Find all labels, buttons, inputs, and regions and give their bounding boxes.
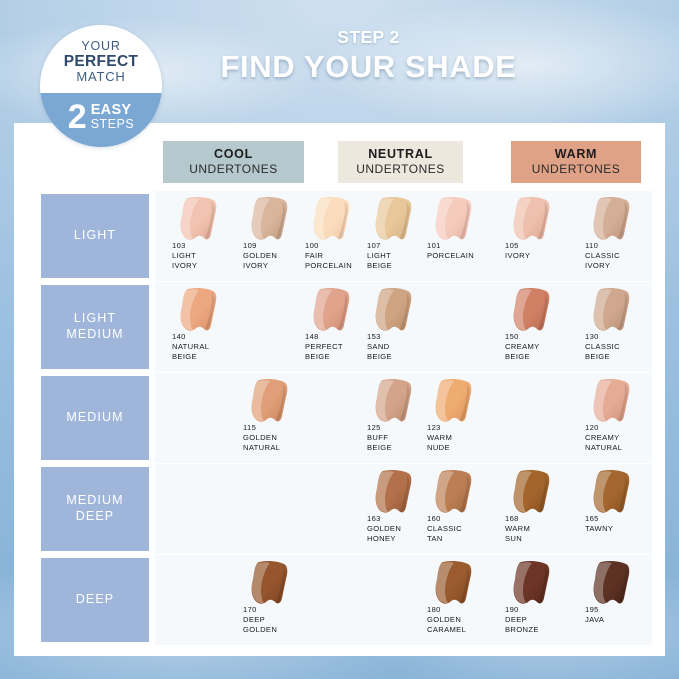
shade-label: 150CREAMYBEIGE xyxy=(505,332,583,362)
shade-name: TAWNY xyxy=(585,524,663,534)
shade-number: 150 xyxy=(505,332,583,342)
shade-cell-101[interactable]: 101PORCELAIN xyxy=(426,191,506,281)
undertone-name: NEUTRAL xyxy=(368,147,433,162)
shade-cell-180[interactable]: 180GOLDENCARAMEL xyxy=(426,555,506,645)
undertone-sublabel: UNDERTONES xyxy=(189,162,278,176)
depth-label-text: LIGHT xyxy=(74,228,116,244)
shade-name: NATURAL xyxy=(172,342,250,352)
shade-number: 123 xyxy=(427,423,505,433)
shade-cell-160[interactable]: 160CLASSICTAN xyxy=(426,464,506,554)
depth-label-medium-deep[interactable]: MEDIUMDEEP xyxy=(41,467,149,551)
foundation-swatch-icon xyxy=(366,195,428,243)
shade-label: 105IVORY xyxy=(505,241,583,261)
shade-name: CLASSIC xyxy=(585,251,663,261)
shade-number: 115 xyxy=(243,423,321,433)
shade-row: LIGHTMEDIUM140NATURALBEIGE148PERFECTBEIG… xyxy=(14,282,665,372)
badge-easy-label: EASY xyxy=(91,103,132,118)
shade-name: SUN xyxy=(505,534,583,544)
foundation-swatch-icon xyxy=(584,286,646,334)
shade-name: CARAMEL xyxy=(427,625,505,635)
shade-cell-120[interactable]: 120CREAMYNATURAL xyxy=(584,373,664,463)
shade-label: 160CLASSICTAN xyxy=(427,514,505,544)
shade-label: 180GOLDENCARAMEL xyxy=(427,605,505,635)
foundation-swatch-icon xyxy=(584,195,646,243)
shade-cell-168[interactable]: 168WARMSUN xyxy=(504,464,584,554)
undertone-header-row: COOL UNDERTONES NEUTRAL UNDERTONES WARM … xyxy=(14,141,665,183)
shade-number: 140 xyxy=(172,332,250,342)
shade-number: 170 xyxy=(243,605,321,615)
depth-label-text: MEDIUM xyxy=(66,410,123,426)
shade-number: 153 xyxy=(367,332,445,342)
shade-label: 168WARMSUN xyxy=(505,514,583,544)
depth-label-medium[interactable]: MEDIUM xyxy=(41,376,149,460)
shade-number: 130 xyxy=(585,332,663,342)
undertone-sublabel: UNDERTONES xyxy=(356,162,445,176)
shade-cell-165[interactable]: 165TAWNY xyxy=(584,464,664,554)
foundation-swatch-icon xyxy=(366,286,428,334)
shade-row: MEDIUMDEEP163GOLDENHONEY160CLASSICTAN168… xyxy=(14,464,665,554)
shade-name: IVORY xyxy=(585,261,663,271)
depth-label-light-medium[interactable]: LIGHTMEDIUM xyxy=(41,285,149,369)
shade-number: 165 xyxy=(585,514,663,524)
shade-name: BEIGE xyxy=(367,352,445,362)
shade-label: 130CLASSICBEIGE xyxy=(585,332,663,362)
depth-label-deep[interactable]: DEEP xyxy=(41,558,149,642)
shade-name: BRONZE xyxy=(505,625,583,635)
shade-chart-card: COOL UNDERTONES NEUTRAL UNDERTONES WARM … xyxy=(14,123,665,656)
shade-label: 140NATURALBEIGE xyxy=(172,332,250,362)
shade-cell-170[interactable]: 170DEEPGOLDEN xyxy=(242,555,322,645)
shade-label: 170DEEPGOLDEN xyxy=(243,605,321,635)
foundation-swatch-icon xyxy=(304,286,366,334)
shade-cell-115[interactable]: 115GOLDENNATURAL xyxy=(242,373,322,463)
foundation-swatch-icon xyxy=(171,286,233,334)
depth-label-text: LIGHTMEDIUM xyxy=(66,311,123,342)
foundation-swatch-icon xyxy=(504,286,566,334)
shade-label: 101PORCELAIN xyxy=(427,241,505,261)
shade-name: TAN xyxy=(427,534,505,544)
shade-row: DEEP170DEEPGOLDEN180GOLDENCARAMEL190DEEP… xyxy=(14,555,665,645)
shade-name: GOLDEN xyxy=(243,625,321,635)
undertone-header-cool: COOL UNDERTONES xyxy=(163,141,304,183)
shade-name: LIGHT xyxy=(172,251,250,261)
shade-name: CREAMY xyxy=(505,342,583,352)
shade-number: 103 xyxy=(172,241,250,251)
badge-step-count: 2 xyxy=(68,103,87,132)
foundation-swatch-icon xyxy=(171,195,233,243)
undertone-header-neutral: NEUTRAL UNDERTONES xyxy=(338,141,463,183)
depth-label-light[interactable]: LIGHT xyxy=(41,194,149,278)
shade-name: BEIGE xyxy=(172,352,250,362)
step-label: STEP 2 xyxy=(58,28,679,47)
badge-your-label: YOUR xyxy=(81,39,120,53)
shade-label: 190DEEPBRONZE xyxy=(505,605,583,635)
shade-name: CLASSIC xyxy=(585,342,663,352)
shade-label: 110CLASSICIVORY xyxy=(585,241,663,271)
shade-name: BEIGE xyxy=(505,352,583,362)
foundation-swatch-icon xyxy=(584,559,646,607)
foundation-swatch-icon xyxy=(426,559,488,607)
badge-steps-label: STEPS xyxy=(91,118,135,132)
shade-label: 195JAVA xyxy=(585,605,663,625)
shade-cell-195[interactable]: 195JAVA xyxy=(584,555,664,645)
shade-number: 101 xyxy=(427,241,505,251)
shade-name: WARM xyxy=(427,433,505,443)
shade-number: 180 xyxy=(427,605,505,615)
foundation-swatch-icon xyxy=(426,468,488,516)
foundation-swatch-icon xyxy=(242,195,304,243)
shade-number: 160 xyxy=(427,514,505,524)
foundation-swatch-icon xyxy=(426,195,488,243)
shade-name: IVORY xyxy=(505,251,583,261)
foundation-swatch-icon xyxy=(242,377,304,425)
foundation-swatch-icon xyxy=(584,468,646,516)
shade-label: 120CREAMYNATURAL xyxy=(585,423,663,453)
foundation-swatch-icon xyxy=(366,377,428,425)
shade-name: BEIGE xyxy=(585,352,663,362)
shade-label: 165TAWNY xyxy=(585,514,663,534)
foundation-swatch-icon xyxy=(426,377,488,425)
shade-name: DEEP xyxy=(243,615,321,625)
shade-label: 153SANDBEIGE xyxy=(367,332,445,362)
undertone-sublabel: UNDERTONES xyxy=(532,162,621,176)
shade-cell-105[interactable]: 105IVORY xyxy=(504,191,584,281)
perfect-match-badge: YOUR PERFECT MATCH 2 EASY STEPS xyxy=(40,25,162,147)
depth-label-text: DEEP xyxy=(76,592,114,608)
shade-row: LIGHT103LIGHTIVORY109GOLDENIVORY100FAIRP… xyxy=(14,191,665,281)
depth-label-text: MEDIUMDEEP xyxy=(66,493,123,524)
shade-number: 105 xyxy=(505,241,583,251)
shade-name: JAVA xyxy=(585,615,663,625)
shade-cell-110[interactable]: 110CLASSICIVORY xyxy=(584,191,664,281)
shade-cell-123[interactable]: 123WARMNUDE xyxy=(426,373,506,463)
foundation-swatch-icon xyxy=(584,377,646,425)
shade-name: SAND xyxy=(367,342,445,352)
undertone-name: COOL xyxy=(214,147,253,162)
shade-name: NATURAL xyxy=(243,443,321,453)
shade-number: 110 xyxy=(585,241,663,251)
shade-cell-190[interactable]: 190DEEPBRONZE xyxy=(504,555,584,645)
shade-cell-130[interactable]: 130CLASSICBEIGE xyxy=(584,282,664,372)
shade-number: 190 xyxy=(505,605,583,615)
shade-name: NATURAL xyxy=(585,443,663,453)
foundation-swatch-icon xyxy=(504,468,566,516)
shade-grid: LIGHT103LIGHTIVORY109GOLDENIVORY100FAIRP… xyxy=(14,191,665,646)
shade-name: PORCELAIN xyxy=(427,251,505,261)
shade-row: MEDIUM115GOLDENNATURAL125BUFFBEIGE123WAR… xyxy=(14,373,665,463)
shade-number: 120 xyxy=(585,423,663,433)
foundation-swatch-icon xyxy=(304,195,366,243)
badge-perfect-label: PERFECT xyxy=(64,53,138,70)
shade-cell-103[interactable]: 103LIGHTIVORY xyxy=(171,191,251,281)
shade-name: WARM xyxy=(505,524,583,534)
shade-name: CREAMY xyxy=(585,433,663,443)
shade-name: CLASSIC xyxy=(427,524,505,534)
badge-match-label: MATCH xyxy=(76,70,125,85)
foundation-swatch-icon xyxy=(242,559,304,607)
foundation-swatch-icon xyxy=(504,195,566,243)
shade-cell-140[interactable]: 140NATURALBEIGE xyxy=(171,282,251,372)
undertone-header-warm: WARM UNDERTONES xyxy=(511,141,641,183)
shade-name: DEEP xyxy=(505,615,583,625)
foundation-swatch-icon xyxy=(504,559,566,607)
shade-label: 123WARMNUDE xyxy=(427,423,505,453)
shade-label: 103LIGHTIVORY xyxy=(172,241,250,271)
foundation-swatch-icon xyxy=(366,468,428,516)
shade-number: 168 xyxy=(505,514,583,524)
undertone-name: WARM xyxy=(555,147,597,162)
shade-name: IVORY xyxy=(172,261,250,271)
shade-name: GOLDEN xyxy=(243,433,321,443)
shade-label: 115GOLDENNATURAL xyxy=(243,423,321,453)
shade-cell-153[interactable]: 153SANDBEIGE xyxy=(366,282,446,372)
shade-name: GOLDEN xyxy=(427,615,505,625)
shade-cell-150[interactable]: 150CREAMYBEIGE xyxy=(504,282,584,372)
shade-number: 195 xyxy=(585,605,663,615)
shade-name: NUDE xyxy=(427,443,505,453)
